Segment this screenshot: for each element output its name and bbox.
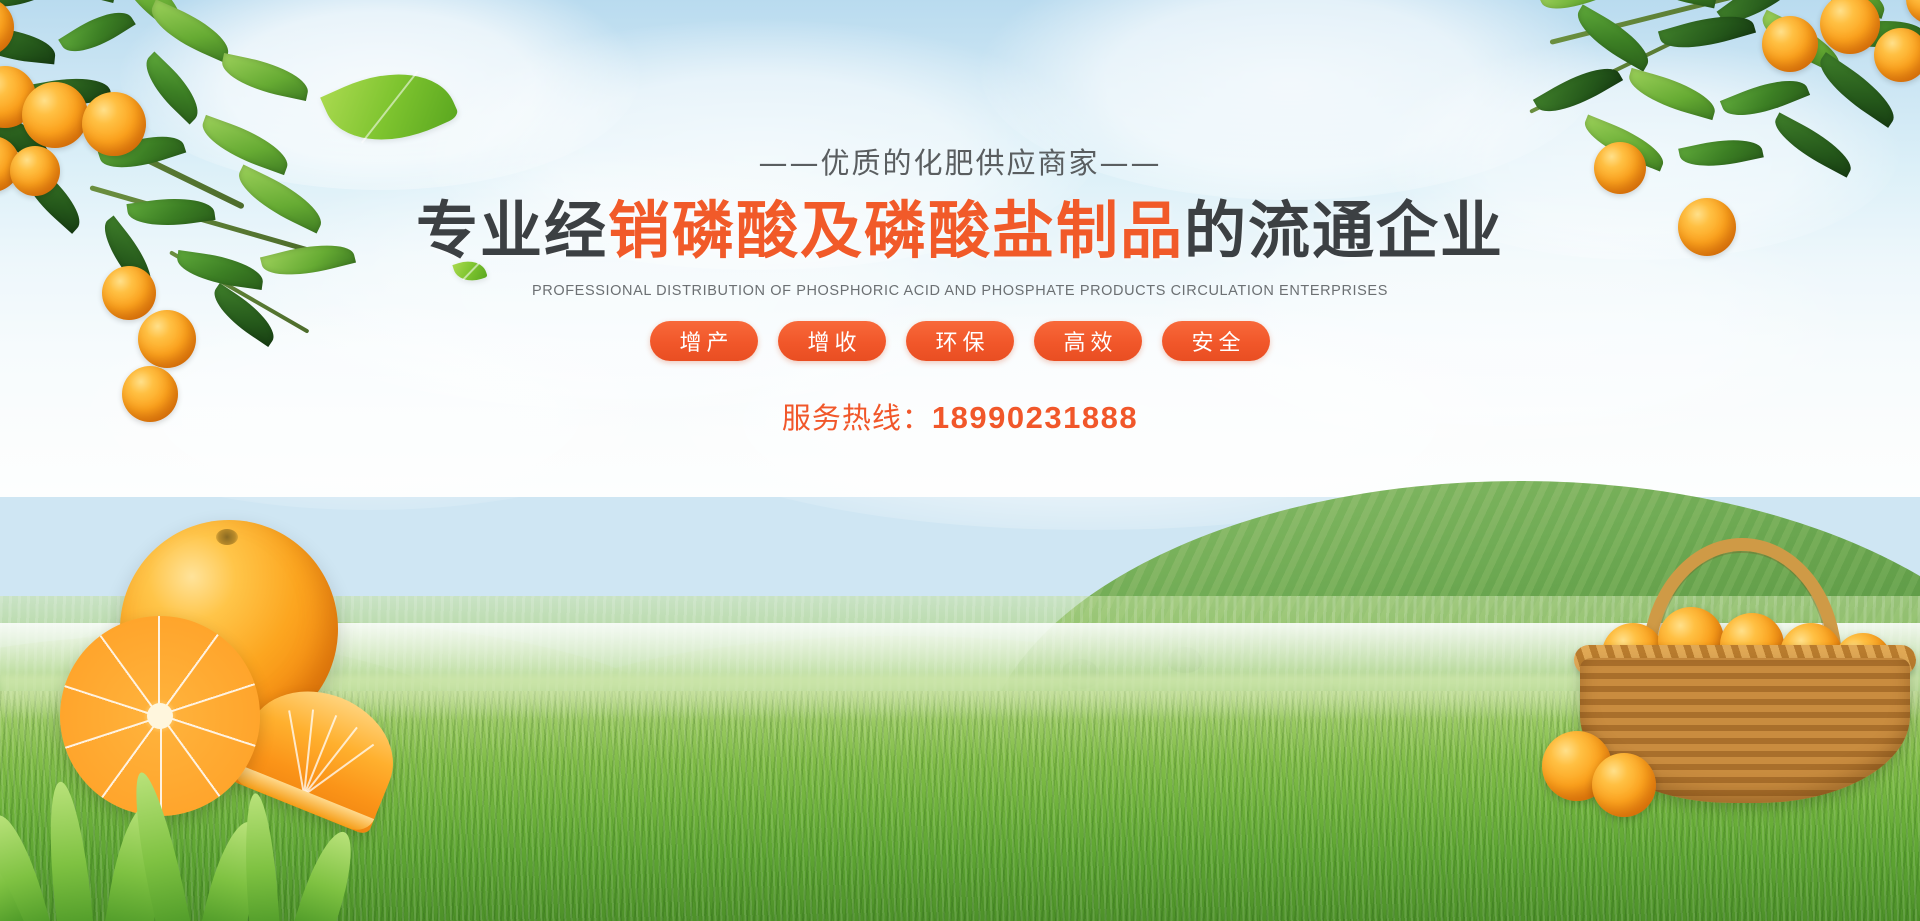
orange-fruit [22, 82, 88, 148]
headline-lead: 专业经 [416, 194, 608, 267]
orange-fruit [1906, 0, 1920, 24]
orange-fruit [1592, 753, 1656, 817]
feature-badge-list: 增产 增收 环保 高效 安全 [0, 321, 1920, 361]
headline-highlight: 销磷酸及磷酸盐制品 [608, 194, 1184, 267]
headline-tail: 的流通企业 [1184, 194, 1504, 267]
banner-eyebrow: ——优质的化肥供应商家—— [0, 140, 1920, 182]
banner-headline: 专业经销磷酸及磷酸盐制品的流通企业 [0, 196, 1920, 265]
banner-subline-english: PROFESSIONAL DISTRIBUTION OF PHOSPHORIC … [0, 283, 1920, 299]
hotline-number[interactable]: 18990231888 [932, 400, 1138, 435]
foreground-grass-blades [0, 741, 460, 921]
service-hotline: 服务热线：18990231888 [0, 395, 1920, 437]
feature-badge-huanbao[interactable]: 环保 [906, 321, 1014, 361]
orange-basket [1580, 543, 1910, 803]
banner-content: ——优质的化肥供应商家—— 专业经销磷酸及磷酸盐制品的流通企业 PROFESSI… [0, 140, 1920, 437]
hotline-label: 服务热线： [782, 401, 932, 435]
feature-badge-zengshou[interactable]: 增收 [778, 321, 886, 361]
feature-badge-gaoxiao[interactable]: 高效 [1034, 321, 1142, 361]
feature-badge-zengchan[interactable]: 增产 [650, 321, 758, 361]
orange-fruit [1762, 16, 1818, 72]
promo-banner: ——优质的化肥供应商家—— 专业经销磷酸及磷酸盐制品的流通企业 PROFESSI… [0, 0, 1920, 921]
feature-badge-anquan[interactable]: 安全 [1162, 321, 1270, 361]
orange-fruit [1874, 28, 1920, 82]
